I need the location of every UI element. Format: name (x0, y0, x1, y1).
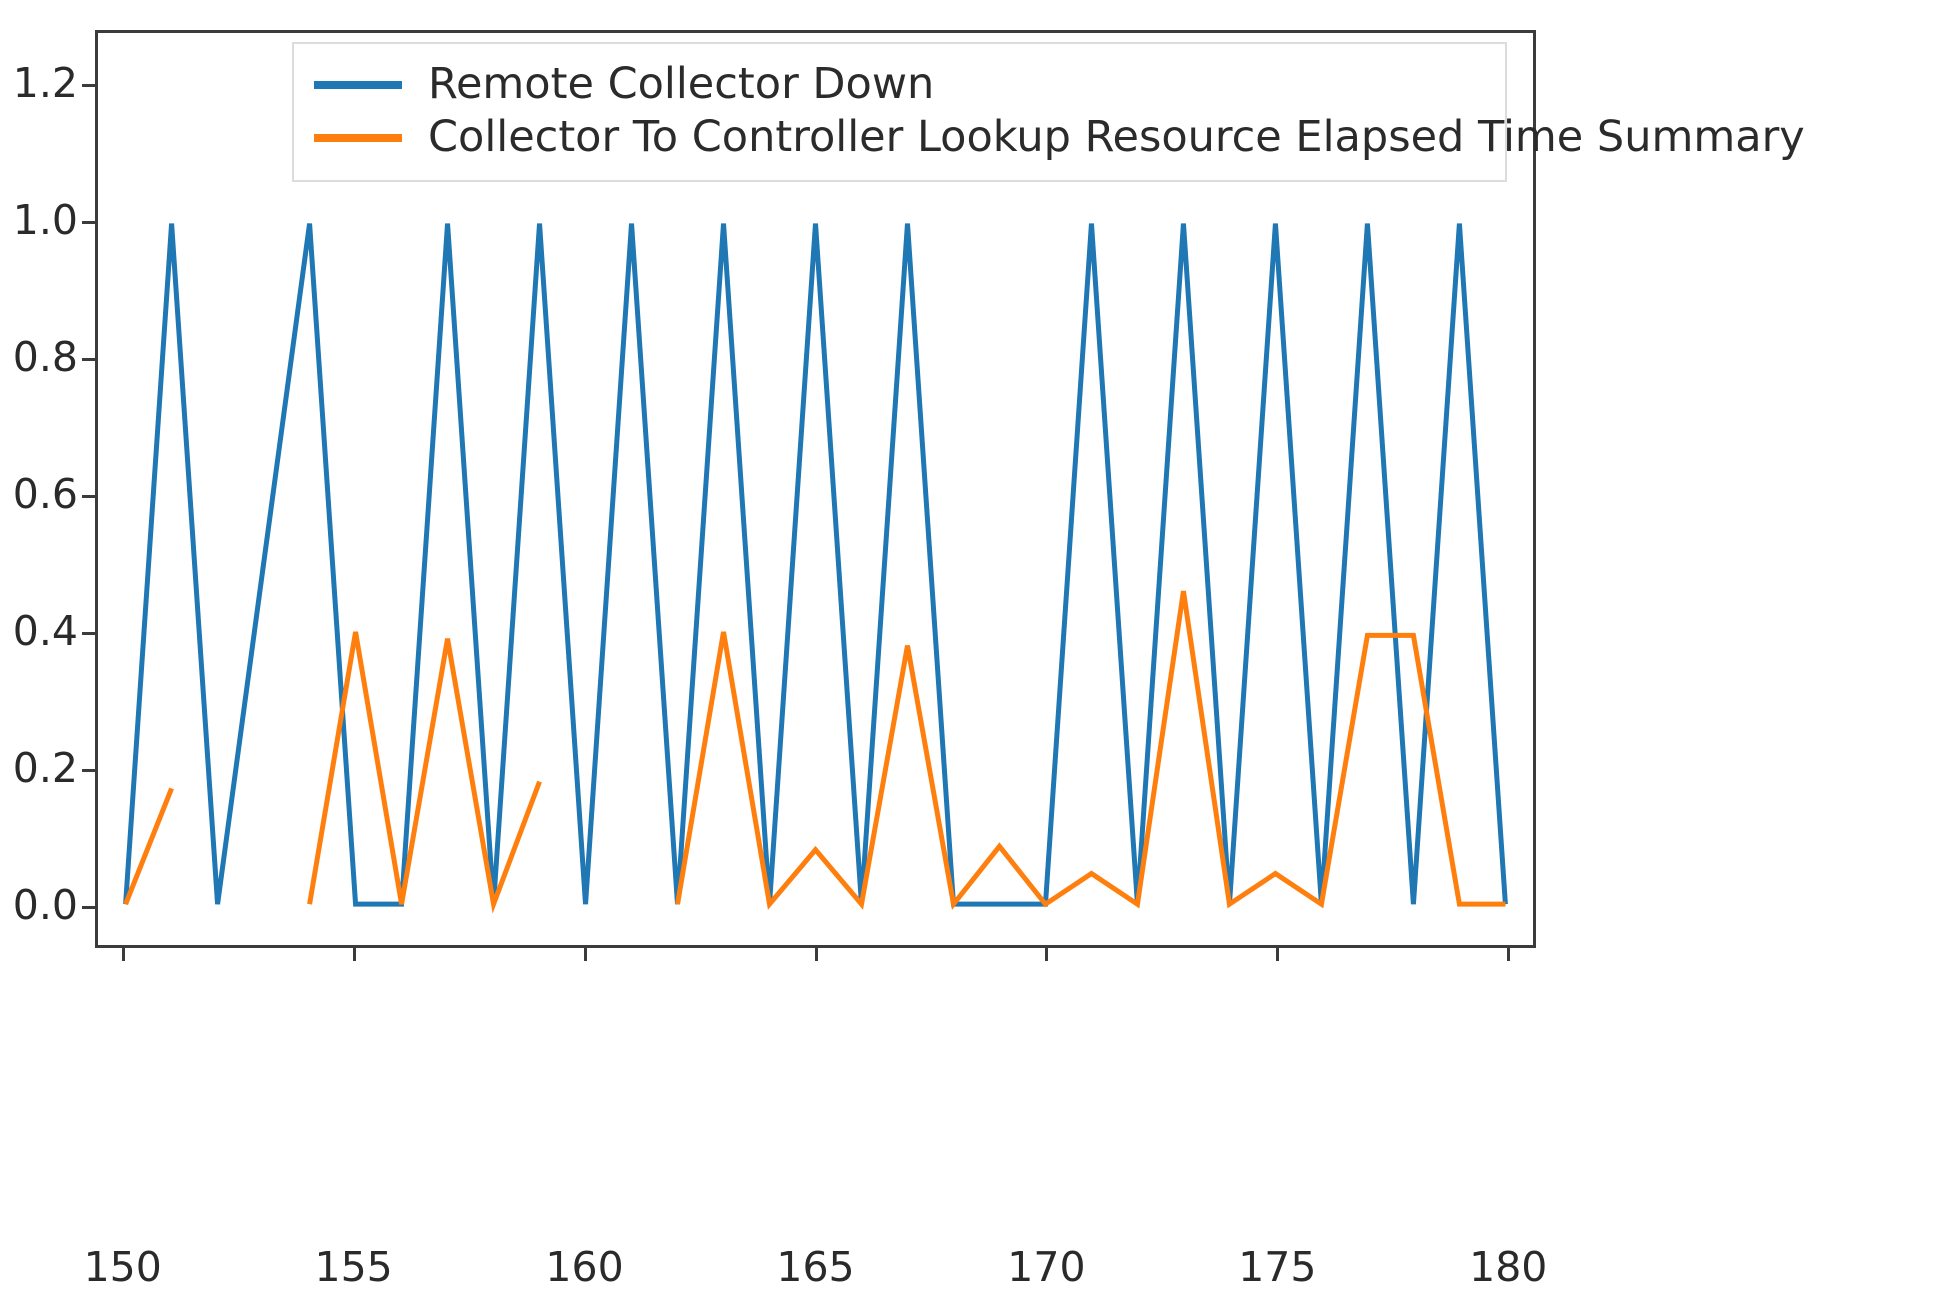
legend-swatch-series-0 (314, 81, 402, 89)
legend-item-remote-collector-down[interactable]: Remote Collector Down (314, 58, 1485, 111)
legend-label-series-1: Collector To Controller Lookup Resource … (428, 115, 1805, 160)
legend-item-collector-to-controller-lookup[interactable]: Collector To Controller Lookup Resource … (314, 111, 1485, 164)
x-tick-mark (1276, 948, 1279, 961)
y-tick-mark (82, 221, 95, 224)
x-tick-label: 175 (1217, 1243, 1337, 1291)
y-tick-mark (82, 495, 95, 498)
series-line-0-seg-0 (126, 224, 1506, 905)
x-tick-label: 160 (525, 1243, 645, 1291)
x-tick-mark (584, 948, 587, 961)
legend: Remote Collector Down Collector To Contr… (292, 42, 1507, 182)
x-tick-mark (815, 948, 818, 961)
y-tick-mark (82, 84, 95, 87)
y-tick-label: 0.8 (0, 333, 78, 381)
y-tick-mark (82, 769, 95, 772)
x-tick-label: 170 (986, 1243, 1106, 1291)
y-tick-label: 0.0 (0, 881, 78, 929)
x-tick-mark (353, 948, 356, 961)
x-tick-label: 155 (294, 1243, 414, 1291)
x-tick-mark (1045, 948, 1048, 961)
x-tick-label: 150 (63, 1243, 183, 1291)
chart-page: 0.00.20.40.60.81.01.2 150155160165170175… (0, 0, 1949, 1312)
y-tick-label: 0.2 (0, 744, 78, 792)
y-tick-mark (82, 358, 95, 361)
y-tick-label: 0.4 (0, 607, 78, 655)
y-tick-mark (82, 632, 95, 635)
y-tick-mark (82, 906, 95, 909)
x-tick-label: 180 (1448, 1243, 1568, 1291)
legend-swatch-series-1 (314, 134, 402, 142)
x-tick-mark (1507, 948, 1510, 961)
series-line-1-seg-2 (678, 591, 1506, 904)
y-tick-label: 1.2 (0, 59, 78, 107)
y-tick-label: 0.6 (0, 470, 78, 518)
y-tick-label: 1.0 (0, 196, 78, 244)
legend-label-series-0: Remote Collector Down (428, 62, 934, 107)
x-tick-mark (122, 948, 125, 961)
x-tick-label: 165 (756, 1243, 876, 1291)
